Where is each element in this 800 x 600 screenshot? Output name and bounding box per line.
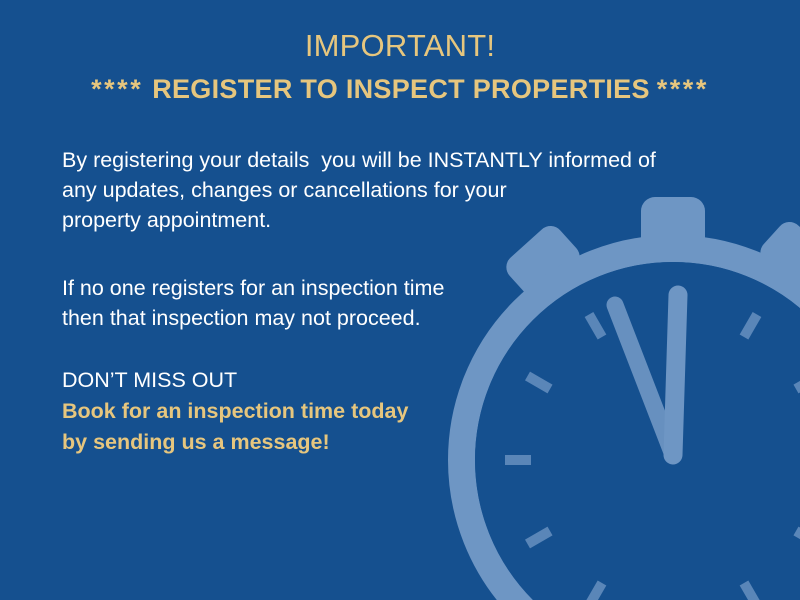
call-to-action-block: DON’T MISS OUT Book for an inspection ti… xyxy=(62,365,742,458)
headline-secondary: ****REGISTER TO INSPECT PROPERTIES**** xyxy=(0,70,800,108)
paragraph-line: any updates, changes or cancellations fo… xyxy=(62,175,742,205)
paragraph-no-registration: If no one registers for an inspection ti… xyxy=(62,273,742,333)
slide-text-layer: IMPORTANT! ****REGISTER TO INSPECT PROPE… xyxy=(0,0,800,600)
headline-block: IMPORTANT! ****REGISTER TO INSPECT PROPE… xyxy=(0,26,800,108)
headline-primary: IMPORTANT! xyxy=(0,26,800,66)
paragraph-line: property appointment. xyxy=(62,205,742,235)
cta-dont-miss-out: DON’T MISS OUT xyxy=(62,365,742,396)
slide-canvas: IMPORTANT! ****REGISTER TO INSPECT PROPE… xyxy=(0,0,800,600)
paragraph-line: By registering your details you will be … xyxy=(62,145,742,175)
cta-send-message: by sending us a message! xyxy=(62,427,742,458)
cta-book-inspection: Book for an inspection time today xyxy=(62,396,742,427)
paragraph-registering: By registering your details you will be … xyxy=(62,145,742,235)
headline-stars-leading: **** xyxy=(91,74,143,104)
headline-stars-trailing: **** xyxy=(657,74,709,104)
paragraph-line: then that inspection may not proceed. xyxy=(62,303,742,333)
headline-secondary-text: REGISTER TO INSPECT PROPERTIES xyxy=(152,74,650,104)
paragraph-line: If no one registers for an inspection ti… xyxy=(62,273,742,303)
